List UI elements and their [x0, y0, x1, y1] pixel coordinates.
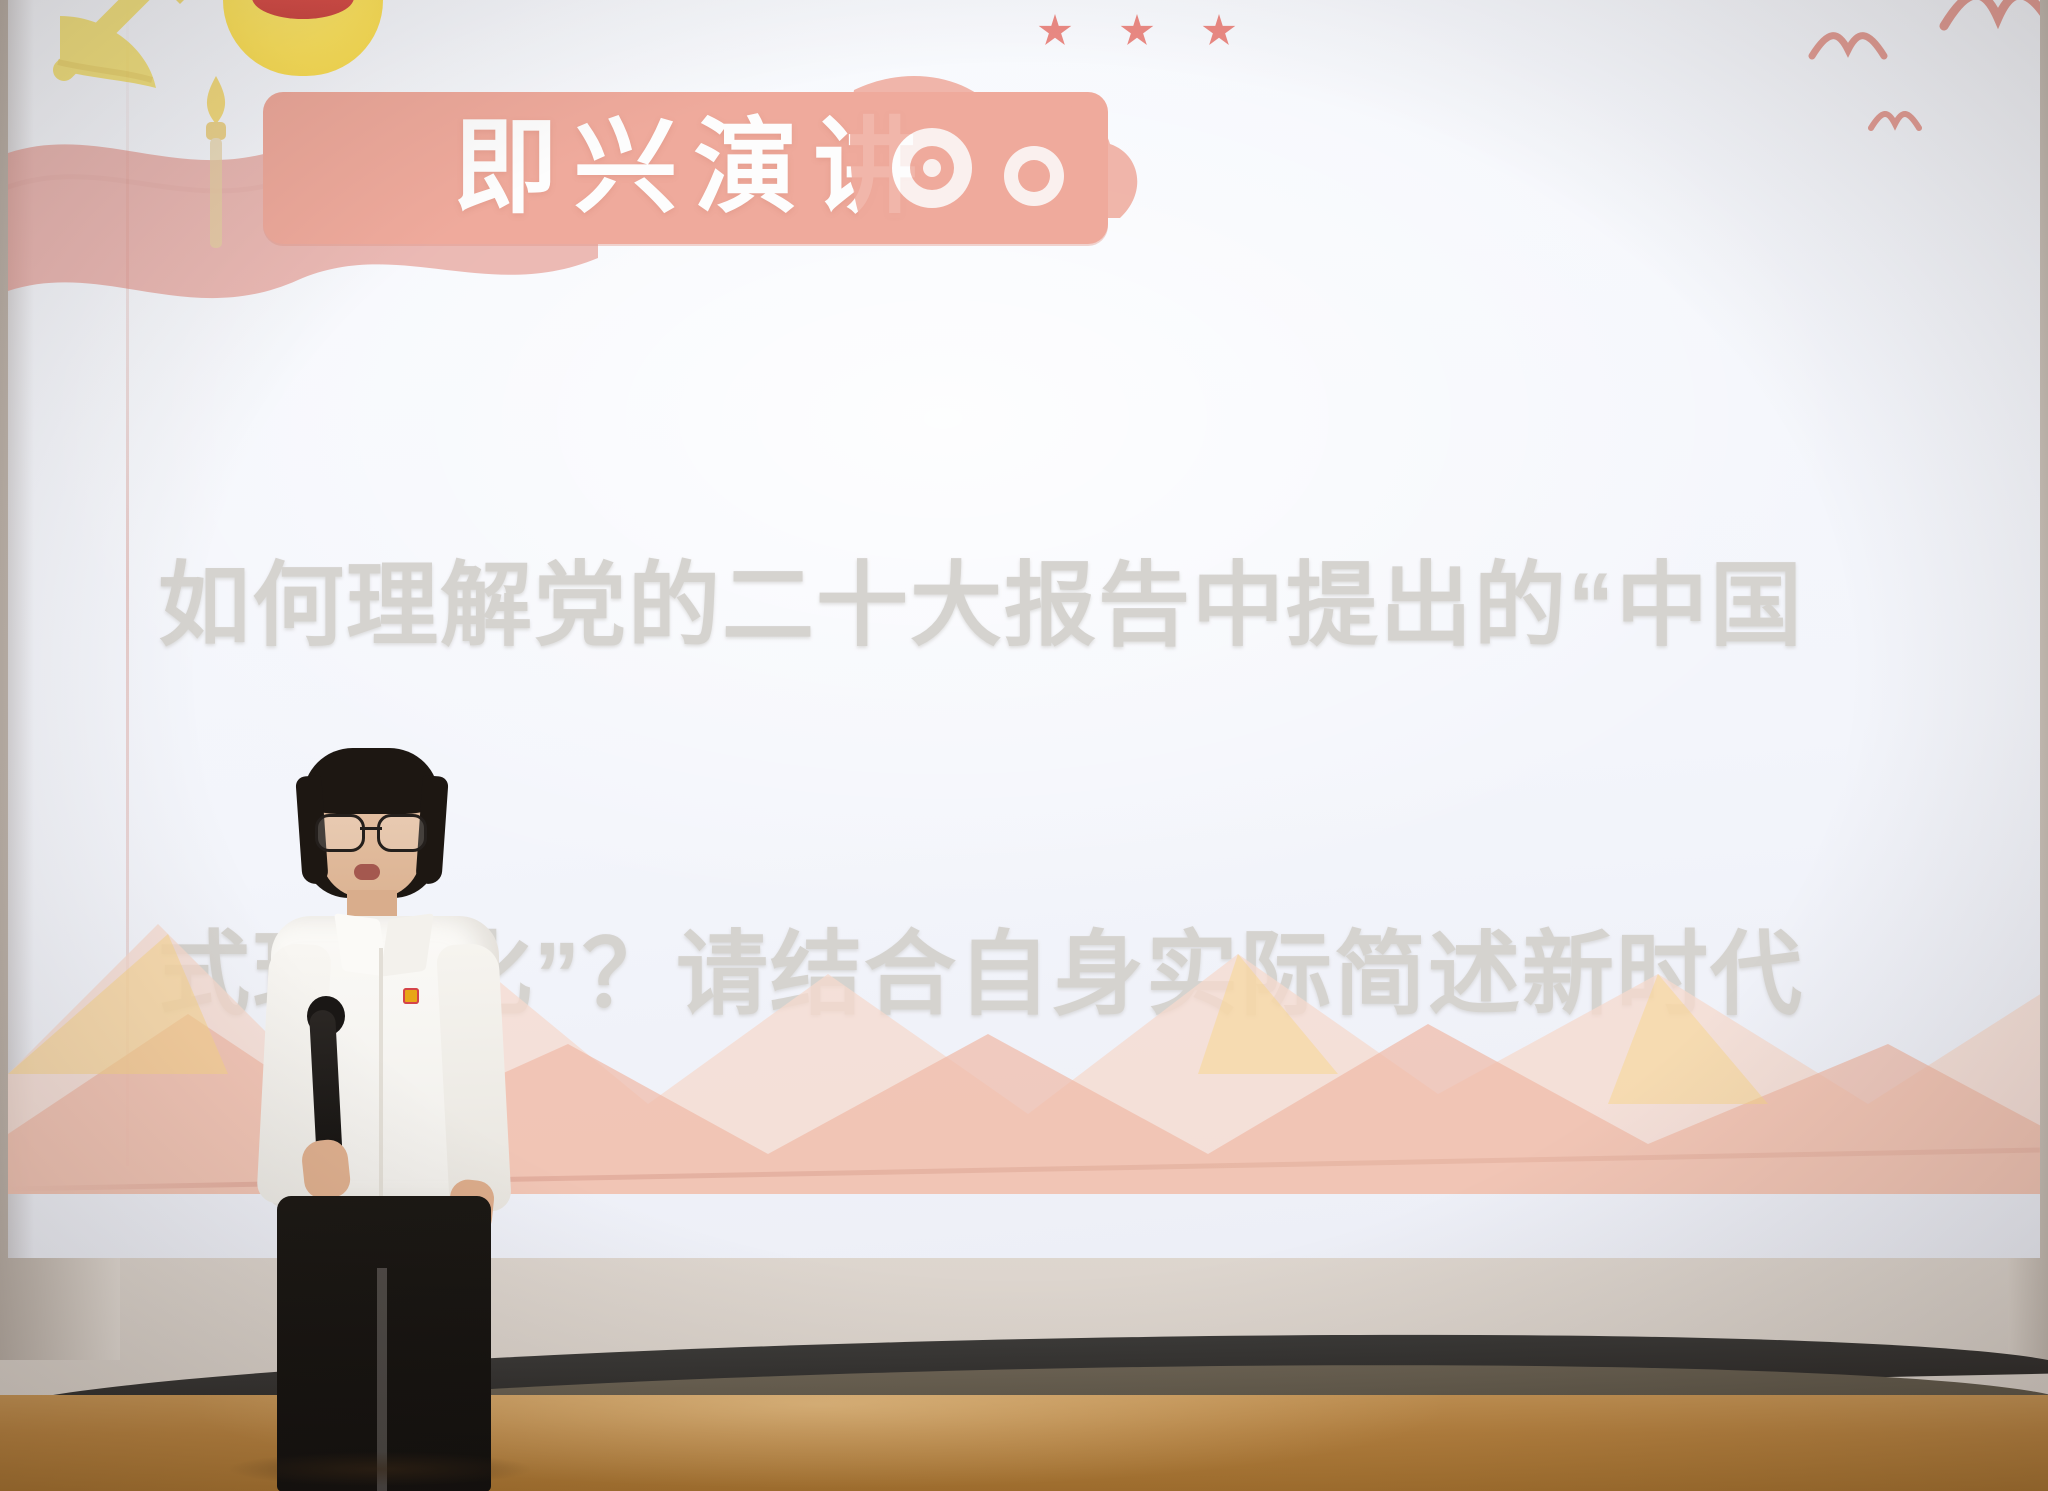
- shirt-placket: [379, 948, 383, 1198]
- hand-left: [300, 1138, 352, 1200]
- speaker-shadow: [230, 1452, 530, 1486]
- glasses-icon: [313, 814, 429, 846]
- lapel-pin-icon: [403, 988, 419, 1004]
- mouth: [354, 864, 380, 880]
- arm-right: [436, 943, 512, 1214]
- hair-front: [303, 748, 439, 814]
- bird-icon: [1808, 20, 1888, 66]
- glasses-lens-right: [377, 814, 427, 852]
- star-icon: [1038, 14, 1072, 48]
- shirt-collar-right: [380, 913, 434, 977]
- stars-row: [1038, 14, 1236, 48]
- glasses-bridge: [360, 827, 382, 830]
- torch-icon: [186, 72, 246, 262]
- bird-icon: [1938, 0, 2040, 40]
- star-icon: [1120, 14, 1154, 48]
- speaker-figure: [255, 748, 515, 1491]
- glasses-lens-left: [315, 814, 365, 852]
- cloud-swirl-icon: [848, 72, 1148, 252]
- bird-icon: [1868, 104, 1922, 136]
- question-line-1: 如何理解党的二十大报告中提出的“中国: [158, 545, 2038, 668]
- star-icon: [1202, 14, 1236, 48]
- screenshot-root: 中华人民: [0, 0, 2048, 1491]
